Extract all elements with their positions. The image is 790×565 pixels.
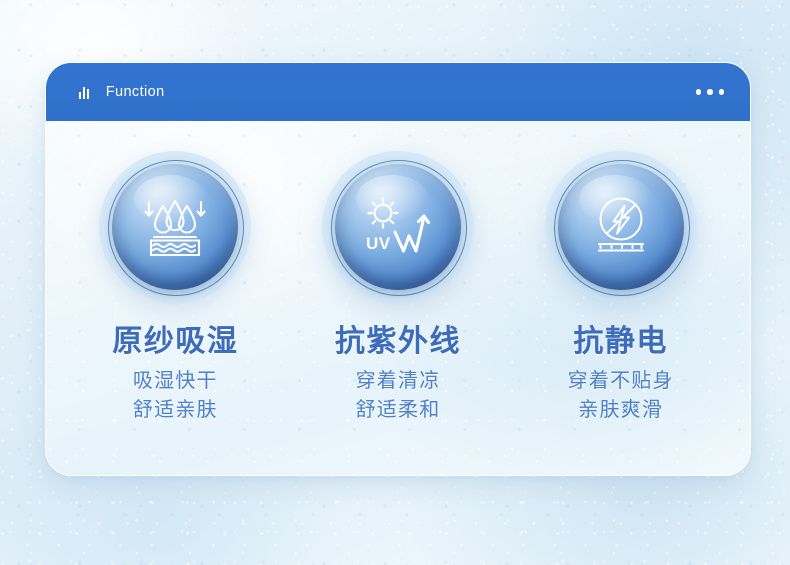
feature-orb	[545, 151, 697, 303]
more-options-icon[interactable]	[696, 89, 725, 95]
feature-orb-inner	[112, 164, 238, 290]
feature-subtitle-line: 穿着清凉	[356, 367, 441, 396]
function-card: Function	[45, 62, 751, 476]
bar-chart-icon	[79, 86, 89, 99]
feature-title: 抗紫外线	[335, 325, 461, 360]
feature-orb-inner: UV	[335, 164, 461, 290]
uv-protection-icon: UV	[362, 194, 434, 260]
features-row: 原纱吸湿 吸湿快干 舒适亲肤	[46, 121, 750, 476]
feature-orb-inner	[558, 164, 684, 290]
more-dot	[707, 89, 713, 95]
feature-item: UV 抗紫外线 穿着清凉 舒适柔和	[287, 151, 510, 425]
feature-subtitle-line: 舒适柔和	[356, 396, 441, 425]
more-dot	[719, 89, 725, 95]
feature-title: 抗静电	[573, 325, 668, 360]
feature-orb: UV	[322, 151, 474, 303]
card-titlebar: Function	[46, 63, 750, 121]
feature-subtitle-line: 舒适亲肤	[133, 396, 218, 425]
feature-item: 原纱吸湿 吸湿快干 舒适亲肤	[64, 151, 287, 425]
feature-subtitle-line: 穿着不贴身	[568, 367, 674, 396]
feature-subtitle-line: 吸湿快干	[133, 367, 218, 396]
titlebar-left-group: Function	[79, 84, 165, 100]
feature-title: 原纱吸湿	[112, 325, 238, 360]
card-title: Function	[106, 84, 165, 100]
more-dot	[696, 89, 702, 95]
feature-subtitle-line: 亲肤爽滑	[578, 396, 663, 425]
anti-static-icon	[587, 195, 655, 259]
svg-text:UV: UV	[366, 234, 391, 253]
feature-item: 抗静电 穿着不贴身 亲肤爽滑	[509, 151, 732, 425]
feature-orb	[99, 151, 251, 303]
moisture-absorption-icon	[138, 193, 212, 261]
